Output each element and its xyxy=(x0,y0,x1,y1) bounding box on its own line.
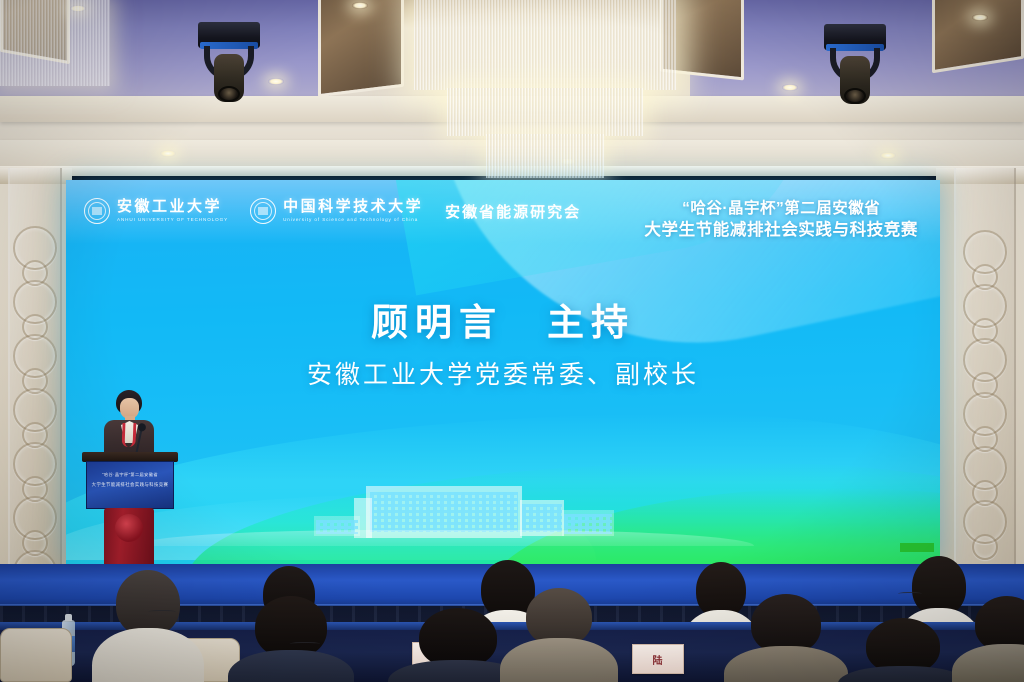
namecard: 陆 xyxy=(632,644,684,674)
audience-person xyxy=(838,618,968,682)
led-stage-screen: 安徽工业大学 ANHUI UNIVERSITY OF TECHNOLOGY 中国… xyxy=(66,180,940,564)
screen-status-indicator xyxy=(900,543,934,552)
audience-person xyxy=(952,596,1024,682)
ahut-seal-icon xyxy=(84,198,110,224)
competition-title: “哈谷·晶宇杯”第二届安徽省 大学生节能减排社会实践与科技竞赛 xyxy=(644,198,918,242)
audience-person xyxy=(92,570,204,682)
ustc-seal-icon xyxy=(250,198,276,224)
slide-sub-title: 安徽工业大学党委常委、副校长 xyxy=(66,355,940,391)
ahut-name-en: ANHUI UNIVERSITY OF TECHNOLOGY xyxy=(117,217,228,223)
ahut-logo: 安徽工业大学 ANHUI UNIVERSITY OF TECHNOLOGY xyxy=(84,198,228,224)
podium-sign: “哈谷·晶宇杯”第二届安徽省 大学生节能减排社会实践与科技竞赛 xyxy=(86,461,174,509)
competition-title-line1: “哈谷·晶宇杯”第二届安徽省 xyxy=(644,198,918,219)
podium-sign-line2: 大学生节能减排社会实践与科技竞赛 xyxy=(87,482,173,488)
ustc-name-en: University of Science and Technology of … xyxy=(283,217,423,223)
ustc-name-cn: 中国科学技术大学 xyxy=(283,199,423,215)
namecard-text: 陆 xyxy=(653,652,664,667)
audience-person xyxy=(500,588,618,682)
chandelier-icon xyxy=(414,0,676,184)
podium-sign-line1: “哈谷·晶宇杯”第二届安徽省 xyxy=(87,472,173,478)
audience-person xyxy=(724,594,848,682)
audience-person xyxy=(228,596,354,682)
chandelier-secondary-icon xyxy=(0,0,110,86)
slide-main-title: 顾明言 主持 xyxy=(66,292,940,346)
chair-back xyxy=(0,628,72,682)
screen-logo-row: 安徽工业大学 ANHUI UNIVERSITY OF TECHNOLOGY 中国… xyxy=(84,198,581,224)
competition-title-line2: 大学生节能减排社会实践与科技竞赛 xyxy=(644,219,918,242)
campus-building-graphic xyxy=(314,482,614,546)
moving-head-stage-light-icon xyxy=(818,24,892,112)
moving-head-stage-light-icon xyxy=(192,22,266,110)
ahut-name-cn: 安徽工业大学 xyxy=(117,199,228,215)
conference-hall-scene: 安徽工业大学 ANHUI UNIVERSITY OF TECHNOLOGY 中国… xyxy=(0,0,1024,682)
ustc-logo: 中国科学技术大学 University of Science and Techn… xyxy=(250,198,423,224)
organizer-label: 安徽省能源研究会 xyxy=(445,201,581,222)
